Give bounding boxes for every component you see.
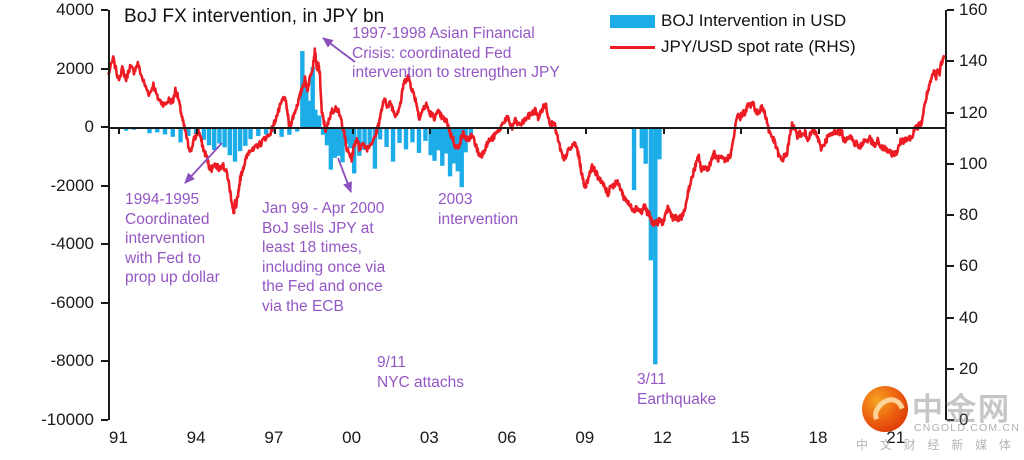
bar-47: [391, 127, 395, 162]
y-tick-right-0: [947, 9, 954, 11]
y-tick-left-3: [101, 185, 108, 187]
annotation-intervention-2003: 2003 intervention: [438, 190, 518, 229]
bar-67: [649, 127, 653, 260]
bar-56: [440, 127, 444, 166]
bar-65: [640, 127, 644, 148]
x-tick-label-10: 21: [886, 428, 905, 448]
bar-31: [317, 115, 321, 127]
x-tick-7: [663, 127, 665, 134]
y-tick-left-2: [101, 126, 108, 128]
bar-12: [212, 127, 216, 150]
annotation-boj-sells-jpy-1999-2000: Jan 99 - Apr 2000 BoJ sells JPY at least…: [262, 199, 385, 316]
bar-18: [243, 127, 247, 146]
x-tick-label-6: 09: [575, 428, 594, 448]
annotation-coordinated-intervention-1994: 1994-1995 Coordinated intervention with …: [125, 190, 220, 288]
y-tick-label-right-6: 40: [959, 308, 978, 328]
x-tick-5: [507, 127, 509, 134]
y-tick-right-1: [947, 60, 954, 62]
bar-48: [397, 127, 401, 143]
bar-49: [404, 127, 408, 149]
x-tick-label-3: 00: [342, 428, 361, 448]
x-tick-3: [352, 127, 354, 134]
annotation-earthquake-311: 3/11 Earthquake: [637, 370, 716, 409]
bar-54: [432, 127, 436, 161]
y-tick-label-left-2: 0: [0, 117, 94, 137]
bar-16: [233, 127, 237, 162]
y-tick-label-right-0: 160: [959, 0, 987, 20]
chart-root: BoJ FX intervention, in JPY bn BOJ Inter…: [0, 0, 1024, 460]
y-tick-label-right-7: 20: [959, 359, 978, 379]
y-tick-label-right-4: 80: [959, 205, 978, 225]
y-tick-left-5: [101, 302, 108, 304]
bar-17: [238, 127, 242, 151]
bar-15: [228, 127, 232, 155]
y-tick-label-left-4: -4000: [0, 234, 94, 254]
y-tick-right-3: [947, 163, 954, 165]
bar-46: [384, 127, 388, 147]
bar-7: [178, 127, 182, 142]
bar-68: [653, 127, 657, 364]
x-tick-6: [585, 127, 587, 134]
y-tick-right-4: [947, 214, 954, 216]
bar-30: [313, 110, 317, 128]
x-tick-label-9: 18: [809, 428, 828, 448]
x-tick-label-2: 97: [264, 428, 283, 448]
bar-35: [333, 127, 337, 158]
x-tick-1: [196, 127, 198, 134]
x-tick-0: [118, 127, 120, 134]
x-tick-label-1: 94: [187, 428, 206, 448]
bar-36: [336, 127, 340, 156]
bar-55: [436, 127, 440, 150]
y-tick-right-2: [947, 112, 954, 114]
x-tick-9: [818, 127, 820, 134]
y-tick-left-0: [101, 9, 108, 11]
x-tick-4: [429, 127, 431, 134]
x-tick-label-5: 06: [498, 428, 517, 448]
bar-52: [423, 127, 427, 141]
y-tick-label-left-7: -10000: [0, 410, 94, 430]
y-tick-label-right-1: 140: [959, 51, 987, 71]
y-tick-left-6: [101, 360, 108, 362]
y-tick-label-left-0: 4000: [0, 0, 94, 20]
zero-baseline: [108, 127, 947, 129]
x-tick-label-0: 91: [109, 428, 128, 448]
y-tick-label-right-8: 0: [959, 410, 968, 430]
annotation-nyc-attacks-911: 9/11 NYC attachs: [377, 353, 464, 392]
y-tick-right-7: [947, 368, 954, 370]
x-tick-label-8: 15: [731, 428, 750, 448]
y-tick-label-right-3: 100: [959, 154, 987, 174]
y-tick-label-right-5: 60: [959, 256, 978, 276]
x-tick-8: [740, 127, 742, 134]
x-tick-label-7: 12: [653, 428, 672, 448]
bar-66: [644, 127, 648, 164]
annotation-arrow-asian-financial-crisis: [323, 38, 355, 62]
bar-50: [410, 127, 414, 142]
y-tick-label-left-6: -8000: [0, 351, 94, 371]
bar-14: [222, 127, 226, 147]
y-tick-label-left-3: -2000: [0, 176, 94, 196]
x-tick-label-4: 03: [420, 428, 439, 448]
bar-13: [217, 127, 221, 143]
y-axis-left-spine: [108, 10, 110, 420]
bar-57: [444, 127, 448, 153]
y-tick-label-right-2: 120: [959, 103, 987, 123]
bar-51: [417, 127, 421, 153]
y-tick-right-8: [947, 419, 954, 421]
y-tick-right-6: [947, 317, 954, 319]
y-tick-left-1: [101, 68, 108, 70]
x-tick-10: [896, 127, 898, 134]
y-tick-label-left-1: 2000: [0, 59, 94, 79]
bar-11: [207, 127, 211, 145]
bar-69: [657, 127, 661, 159]
bar-64: [632, 127, 636, 190]
x-tick-2: [274, 127, 276, 134]
y-tick-left-7: [101, 419, 108, 421]
y-tick-label-left-5: -6000: [0, 293, 94, 313]
annotation-asian-financial-crisis: 1997-1998 Asian Financial Crisis: coordi…: [352, 24, 560, 83]
bar-34: [329, 127, 333, 169]
y-tick-left-4: [101, 243, 108, 245]
y-tick-right-5: [947, 265, 954, 267]
annotation-arrow-boj-sells-jpy-1999-2000: [338, 158, 351, 192]
